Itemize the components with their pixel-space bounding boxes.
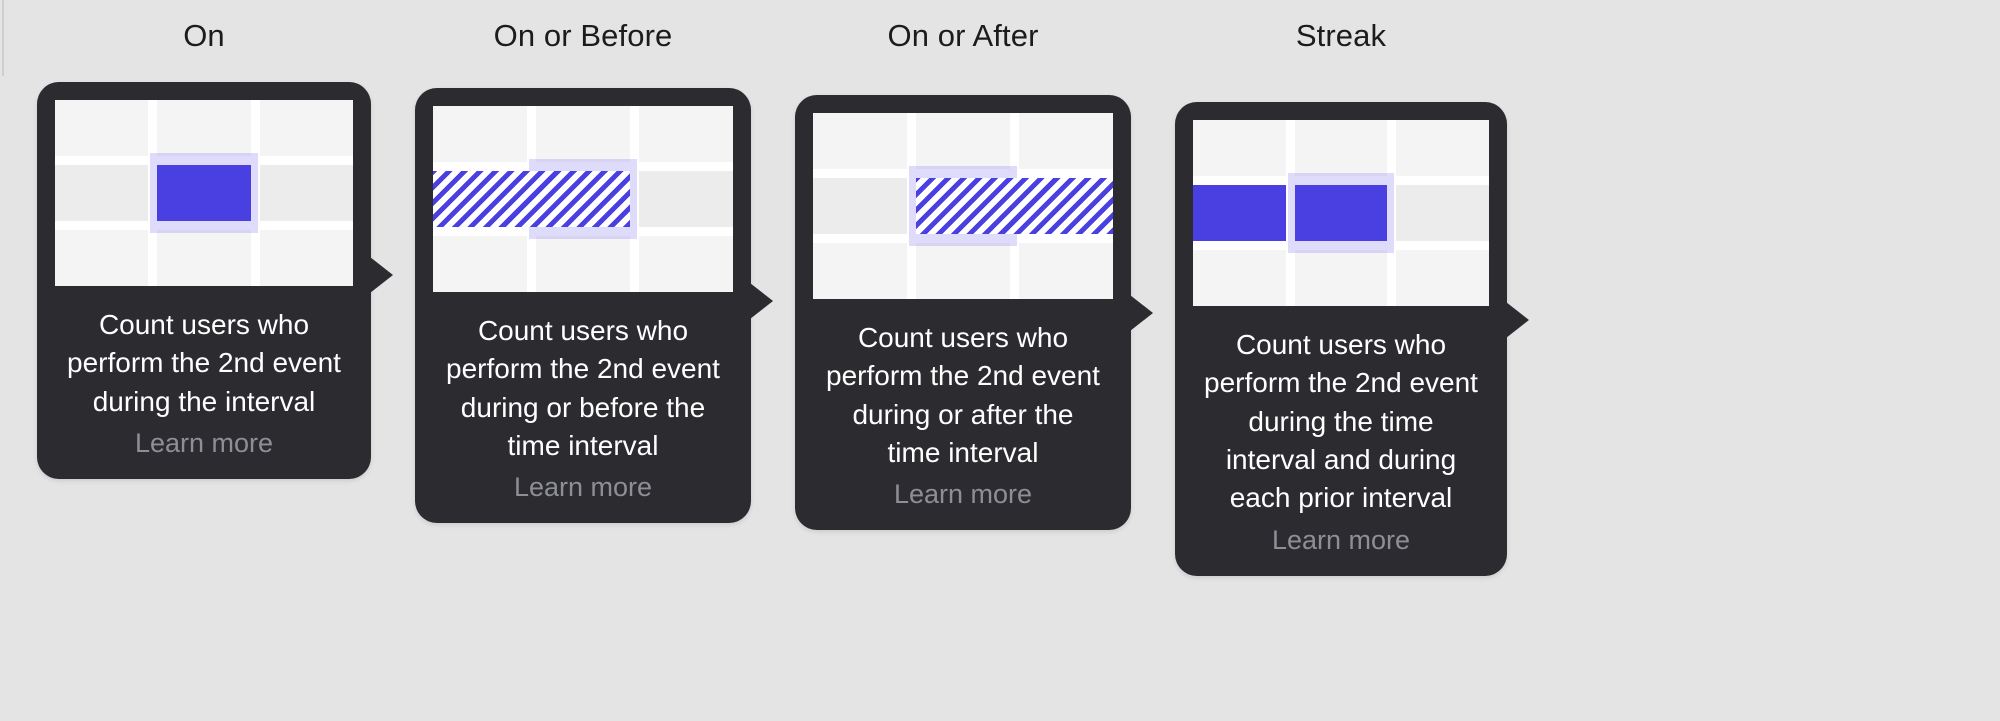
card-arrow-streak bbox=[1506, 302, 1529, 338]
preview-grid-streak bbox=[1193, 120, 1489, 306]
grid-cell bbox=[55, 165, 148, 221]
preview-grid-on-or-before bbox=[433, 106, 733, 292]
grid-cell bbox=[1193, 120, 1286, 176]
card-on-or-before[interactable]: Count users who perform the 2nd event du… bbox=[415, 88, 751, 523]
grid-cell bbox=[1295, 120, 1388, 176]
grid-cell bbox=[639, 171, 733, 227]
grid-cell bbox=[813, 113, 907, 169]
grid-cell bbox=[260, 100, 353, 156]
grid-cell bbox=[813, 243, 907, 299]
grid-cell bbox=[639, 106, 733, 162]
card-on[interactable]: Count users who perform the 2nd event du… bbox=[37, 82, 371, 479]
card-description-on-or-before: Count users who perform the 2nd event du… bbox=[437, 312, 729, 465]
learn-more-link-on-or-before[interactable]: Learn more bbox=[433, 472, 733, 523]
grid-cell bbox=[916, 113, 1010, 169]
event-block-solid bbox=[157, 165, 250, 221]
grid-cell bbox=[260, 165, 353, 221]
grid-cell bbox=[157, 230, 250, 286]
card-description-on: Count users who perform the 2nd event du… bbox=[59, 306, 349, 421]
grid-cell bbox=[157, 100, 250, 156]
grid-cell bbox=[1019, 243, 1113, 299]
event-block-solid bbox=[1193, 185, 1286, 241]
grid-cell bbox=[1193, 250, 1286, 306]
grid-cell bbox=[536, 236, 630, 292]
card-arrow-on bbox=[370, 257, 393, 293]
grid-cell bbox=[1396, 250, 1489, 306]
grid-cell bbox=[639, 236, 733, 292]
grid-cell bbox=[260, 230, 353, 286]
grid-cell bbox=[1396, 120, 1489, 176]
preview-grid-on-or-after bbox=[813, 113, 1113, 299]
card-arrow-on-or-before bbox=[750, 283, 773, 319]
grid-cell bbox=[1396, 185, 1489, 241]
card-on-or-after[interactable]: Count users who perform the 2nd event du… bbox=[795, 95, 1131, 530]
card-arrow-on-or-after bbox=[1130, 295, 1153, 331]
event-block-striped bbox=[916, 178, 1113, 234]
card-description-streak: Count users who perform the 2nd event du… bbox=[1197, 326, 1485, 518]
grid-cell bbox=[433, 106, 527, 162]
cards-layer: Count users who perform the 2nd event du… bbox=[0, 0, 2000, 721]
grid-cell bbox=[1019, 113, 1113, 169]
grid-cell bbox=[916, 243, 1010, 299]
card-description-on-or-after: Count users who perform the 2nd event du… bbox=[817, 319, 1109, 472]
event-block-solid bbox=[1295, 185, 1388, 241]
preview-grid-on bbox=[55, 100, 353, 286]
grid-cell bbox=[433, 236, 527, 292]
learn-more-link-on-or-after[interactable]: Learn more bbox=[813, 479, 1113, 530]
learn-more-link-on[interactable]: Learn more bbox=[55, 428, 353, 479]
grid-cell bbox=[1295, 250, 1388, 306]
grid-cell bbox=[813, 178, 907, 234]
grid-cell bbox=[55, 230, 148, 286]
event-block-striped bbox=[433, 171, 630, 227]
learn-more-link-streak[interactable]: Learn more bbox=[1193, 525, 1489, 576]
grid-cell bbox=[55, 100, 148, 156]
card-streak[interactable]: Count users who perform the 2nd event du… bbox=[1175, 102, 1507, 576]
grid-cell bbox=[536, 106, 630, 162]
